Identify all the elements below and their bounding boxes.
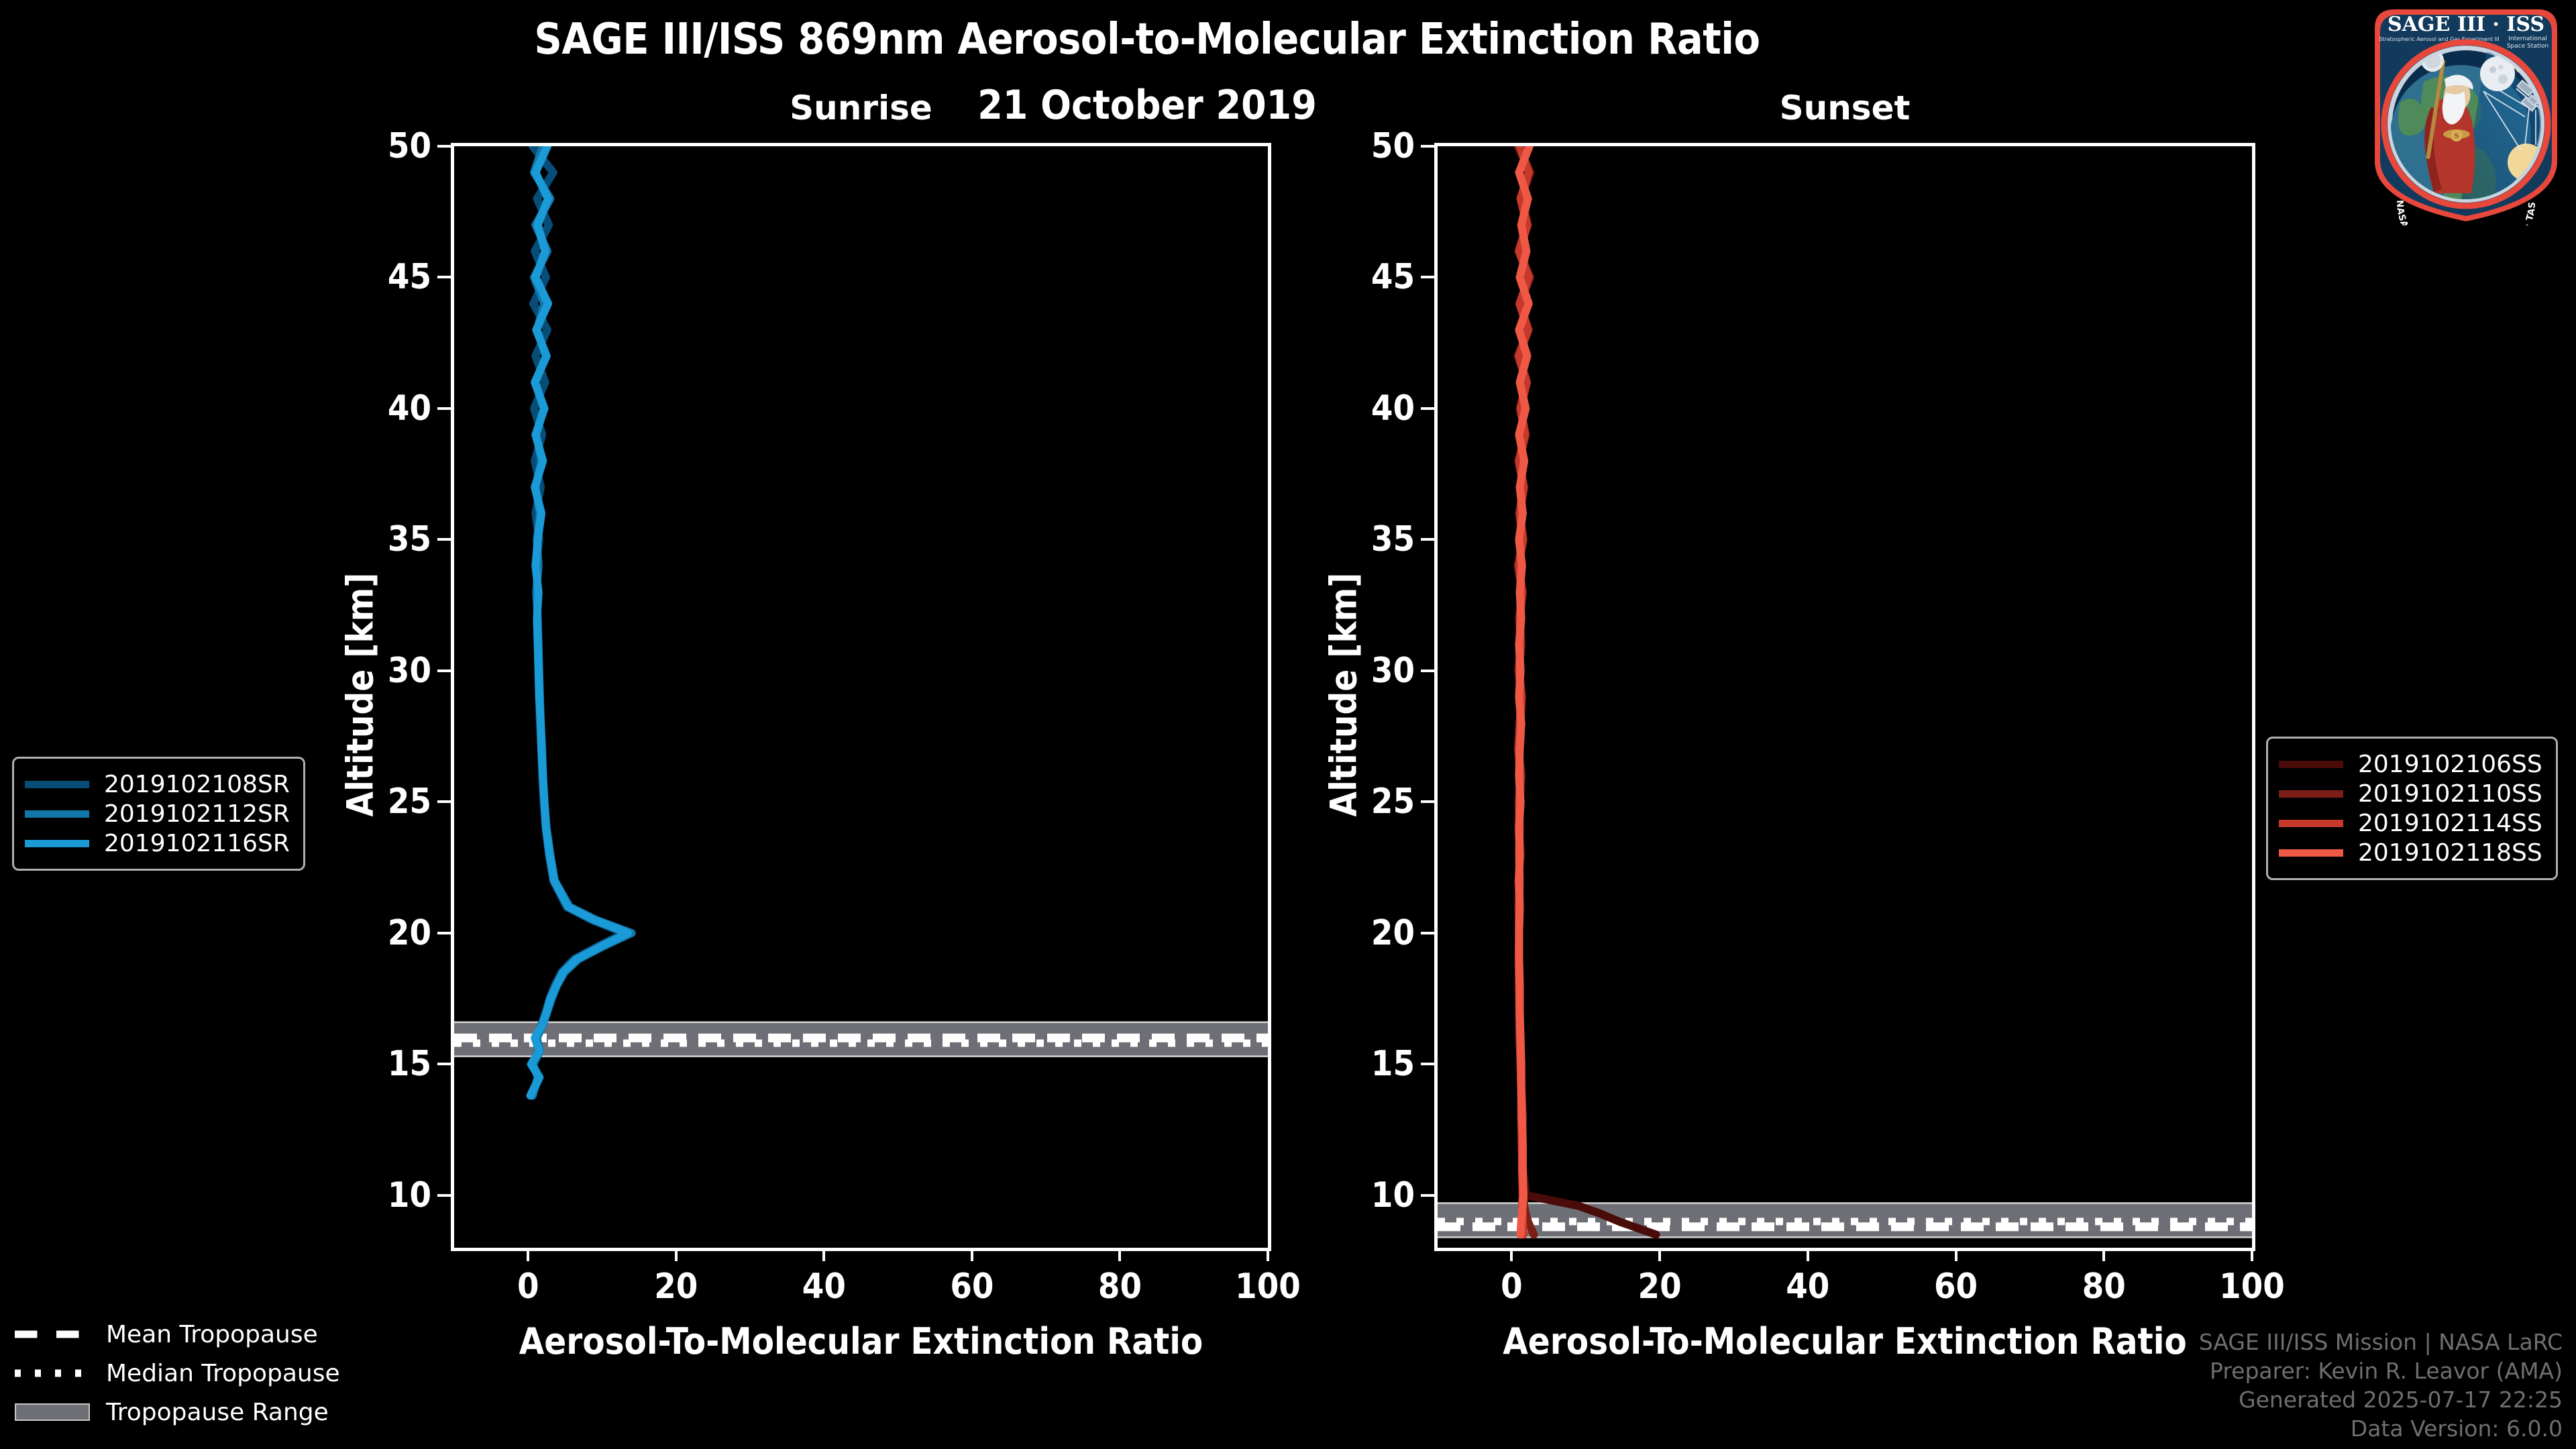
tropopause-range-band: [1438, 1203, 2252, 1238]
y-tick-label: 45: [1371, 257, 1415, 297]
plot-sunset: 020406080100101520253035404550 Aerosol-T…: [1434, 143, 2255, 1251]
legend-color-swatch: [2279, 820, 2343, 827]
legend-item-label: 2019102116SR: [104, 830, 290, 857]
y-tick-label: 20: [388, 913, 431, 953]
x-tick: [1510, 1248, 1513, 1261]
x-tick: [2251, 1248, 2253, 1261]
legend-sunset[interactable]: 2019102106SS2019102110SS2019102114SS2019…: [2266, 737, 2558, 880]
page-title: SAGE III/ISS 869nm Aerosol-to-Molecular …: [0, 15, 2294, 64]
y-tick-label: 15: [388, 1044, 431, 1084]
y-tick-label: 25: [1371, 782, 1415, 822]
sunrise-series-svg: [454, 146, 1268, 1248]
y-tick-label: 50: [388, 126, 431, 166]
x-tick-label: 100: [1235, 1267, 1301, 1307]
x-tick-label: 60: [950, 1267, 994, 1307]
y-tick-label: 35: [1371, 519, 1415, 559]
y-tick-label: 15: [1371, 1044, 1415, 1084]
legend-item-label: 2019102114SS: [2358, 810, 2542, 837]
series-line: [1517, 146, 1656, 1234]
y-tick: [1421, 1063, 1434, 1065]
y-tick: [437, 276, 451, 278]
legend-color-swatch: [25, 840, 89, 847]
x-tick: [822, 1248, 825, 1261]
plot-sunrise-canvas: [454, 146, 1268, 1248]
legend-color-swatch: [25, 781, 89, 788]
sunset-yaxis-label: Altitude [km]: [1323, 561, 1365, 829]
x-tick: [2102, 1248, 2105, 1261]
y-tick: [437, 800, 451, 803]
y-tick: [1421, 538, 1434, 541]
tropopause-mean-label: Mean Tropopause: [106, 1321, 318, 1348]
legend-color-swatch: [25, 810, 89, 818]
x-tick-label: 40: [1786, 1267, 1829, 1307]
y-tick-label: 45: [388, 257, 431, 297]
x-tick-label: 80: [2082, 1267, 2126, 1307]
y-tick: [1421, 276, 1434, 278]
legend-item-label: 2019102118SS: [2358, 839, 2542, 867]
mission-patch-svg: SAGE III · ISS Stratospheric Aerosol and…: [2360, 1, 2572, 225]
legend-color-swatch: [2279, 849, 2343, 857]
svg-text:International: International: [2508, 36, 2546, 42]
y-tick: [1421, 800, 1434, 803]
x-tick: [1658, 1248, 1661, 1261]
svg-text:S: S: [2454, 133, 2459, 140]
legend-sunrise-item[interactable]: 2019102112SR: [25, 799, 290, 828]
y-tick: [1421, 145, 1434, 148]
tropopause-key-range: Tropopause Range: [15, 1393, 340, 1432]
x-tick: [675, 1248, 678, 1261]
range-box-icon: [15, 1404, 90, 1420]
y-tick-label: 30: [1371, 651, 1415, 691]
y-tick-label: 40: [388, 388, 431, 429]
y-tick: [437, 932, 451, 934]
y-tick: [1421, 669, 1434, 672]
legend-sunset-item[interactable]: 2019102114SS: [2279, 808, 2542, 838]
credit-line-mission: SAGE III/ISS Mission | NASA LaRC: [2199, 1328, 2563, 1357]
plot-sunrise: 020406080100101520253035404550 Aerosol-T…: [451, 143, 1271, 1251]
x-tick: [1267, 1248, 1269, 1261]
credit-line-generated: Generated 2025-07-17 22:25: [2199, 1386, 2563, 1415]
tropopause-median-label: Median Tropopause: [106, 1360, 340, 1387]
x-tick-label: 20: [1638, 1267, 1682, 1307]
series-line: [531, 146, 629, 1095]
sunrise-yaxis-label: Altitude [km]: [339, 561, 382, 829]
x-tick-label: 0: [1501, 1267, 1523, 1307]
legend-color-swatch: [2279, 761, 2343, 768]
x-tick: [1807, 1248, 1809, 1261]
legend-sunrise-item[interactable]: 2019102108SR: [25, 769, 290, 799]
legend-item-label: 2019102112SR: [104, 800, 290, 828]
legend-sunset-item[interactable]: 2019102106SS: [2279, 749, 2542, 779]
legend-item-label: 2019102110SS: [2358, 780, 2542, 808]
y-tick-label: 40: [1371, 388, 1415, 429]
y-tick: [437, 407, 451, 410]
y-tick-label: 35: [388, 519, 431, 559]
y-tick: [1421, 932, 1434, 934]
y-tick: [1421, 407, 1434, 410]
tropopause-key-mean: Mean Tropopause: [15, 1315, 340, 1354]
y-tick: [437, 1063, 451, 1065]
tropopause-key-median: Median Tropopause: [15, 1354, 340, 1393]
plot-sunset-canvas: [1438, 146, 2252, 1248]
credits-block: SAGE III/ISS Mission | NASA LaRC Prepare…: [2199, 1328, 2563, 1444]
legend-item-label: 2019102108SR: [104, 771, 290, 798]
credit-line-version: Data Version: 6.0.0: [2199, 1415, 2563, 1444]
y-tick-label: 10: [388, 1175, 431, 1216]
x-tick-label: 80: [1098, 1267, 1142, 1307]
x-tick: [971, 1248, 973, 1261]
y-tick: [437, 145, 451, 148]
x-tick: [1118, 1248, 1121, 1261]
x-tick-label: 20: [654, 1267, 698, 1307]
y-tick: [1421, 1194, 1434, 1197]
y-tick-label: 30: [388, 651, 431, 691]
y-tick: [437, 1194, 451, 1197]
svg-text:Space Station: Space Station: [2507, 43, 2548, 50]
y-tick-label: 10: [1371, 1175, 1415, 1216]
y-tick-label: 50: [1371, 126, 1415, 166]
legend-sunrise-item[interactable]: 2019102116SR: [25, 828, 290, 858]
legend-color-swatch: [2279, 790, 2343, 798]
legend-sunset-item[interactable]: 2019102110SS: [2279, 779, 2542, 808]
legend-sunset-item[interactable]: 2019102118SS: [2279, 838, 2542, 867]
x-tick-label: 100: [2219, 1267, 2285, 1307]
dotted-line-icon: [15, 1365, 90, 1381]
tropopause-range-label: Tropopause Range: [106, 1399, 329, 1426]
x-tick-label: 40: [802, 1267, 846, 1307]
y-tick-label: 20: [1371, 913, 1415, 953]
x-tick-label: 0: [517, 1267, 539, 1307]
credit-line-preparer: Preparer: Kevin R. Leavor (AMA): [2199, 1357, 2563, 1386]
dashed-line-icon: [15, 1326, 90, 1342]
svg-text:SAGE III · ISS: SAGE III · ISS: [2387, 13, 2544, 36]
panel-title-sunset: Sunset: [1434, 89, 2255, 127]
y-tick-label: 25: [388, 782, 431, 822]
sunrise-xaxis-label: Aerosol-To-Molecular Extinction Ratio: [454, 1320, 1268, 1362]
sunset-xaxis-label: Aerosol-To-Molecular Extinction Ratio: [1438, 1320, 2252, 1362]
x-tick-label: 60: [1934, 1267, 1978, 1307]
sunset-series-svg: [1438, 146, 2252, 1248]
panel-title-sunrise: Sunrise: [451, 89, 1271, 127]
y-tick: [437, 538, 451, 541]
x-tick: [1955, 1248, 1957, 1261]
tropopause-key: Mean Tropopause Median Tropopause Tropop…: [15, 1315, 340, 1432]
sage-iii-iss-mission-patch-logo: SAGE III · ISS Stratospheric Aerosol and…: [2360, 1, 2572, 225]
legend-sunrise[interactable]: 2019102108SR2019102112SR2019102116SR: [12, 757, 305, 871]
y-tick: [437, 669, 451, 672]
legend-item-label: 2019102106SS: [2358, 751, 2542, 778]
x-tick: [527, 1248, 529, 1261]
